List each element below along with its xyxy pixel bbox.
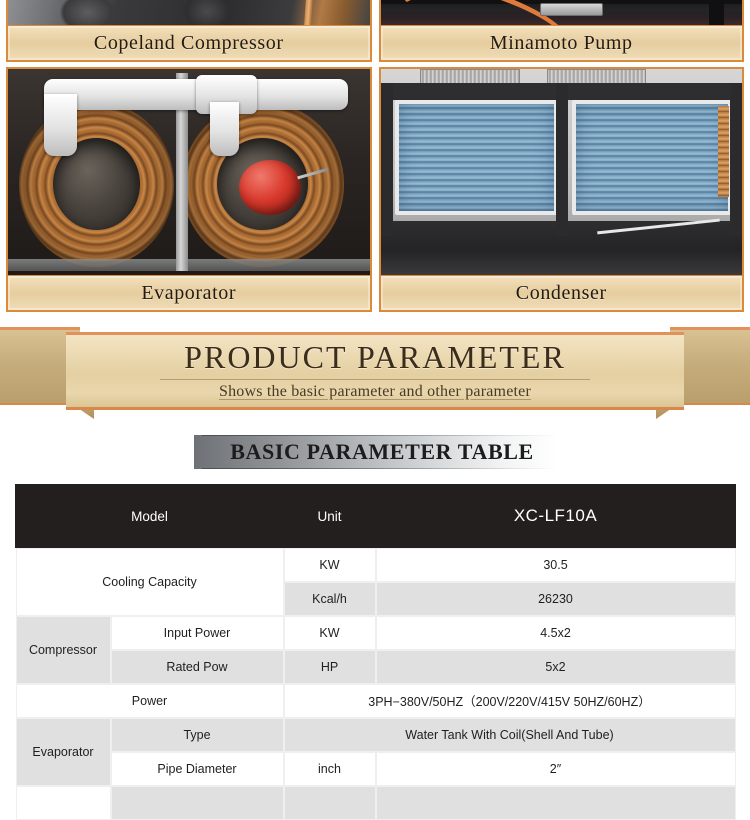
gallery-caption-evaporator: Evaporator (8, 275, 370, 310)
condenser-photo (381, 69, 743, 275)
caption-text: Copeland Compressor (94, 32, 284, 55)
banner-title: PRODUCT PARAMETER (184, 341, 566, 375)
cell-value: 4.5x2 (376, 616, 736, 650)
cell-group (16, 786, 111, 820)
pvc-pipe-elbow-left (44, 94, 77, 156)
gallery-row-top: Copeland Compressor Minamoto Pump (6, 0, 744, 62)
pump-rail (709, 0, 723, 25)
gallery-caption-pump: Minamoto Pump (381, 25, 743, 60)
cell-value (376, 786, 736, 820)
gallery-caption-compressor: Copeland Compressor (8, 25, 370, 60)
gallery-cell-condenser[interactable]: Condenser (379, 67, 745, 312)
section-heading-text: BASIC PARAMETER TABLE (230, 439, 534, 464)
compressor-photo (8, 0, 370, 25)
gallery-caption-condenser: Condenser (381, 275, 743, 310)
banner-subtitle: Shows the basic parameter and other para… (219, 383, 531, 401)
condenser-fin-pack-left (395, 100, 558, 215)
banner-center-panel: PRODUCT PARAMETER Shows the basic parame… (66, 332, 684, 410)
cell-item: Pipe Diameter (111, 752, 284, 786)
cell-value: 2″ (376, 752, 736, 786)
table-row: Pipe Diameter inch 2″ (16, 752, 736, 786)
pump-nameplate (540, 3, 603, 17)
cell-unit: HP (284, 650, 376, 684)
banner-divider (160, 379, 590, 380)
cell-unit: KW (284, 548, 376, 582)
cell-value: Water Tank With Coil(Shell And Tube) (284, 718, 736, 752)
table-row-partial (16, 786, 736, 820)
cell-item (111, 786, 284, 820)
header-model: Model (16, 485, 284, 548)
cell-item: Rated Pow (111, 650, 284, 684)
condenser-post-right (730, 83, 742, 235)
section-heading-wrap: BASIC PARAMETER TABLE (0, 435, 750, 469)
cell-unit: Kcal/h (284, 582, 376, 616)
basic-parameter-table: Model Unit XC-LF10A Cooling Capacity KW … (15, 484, 736, 820)
basic-parameter-table-heading: BASIC PARAMETER TABLE (194, 435, 556, 469)
evaporator-photo (8, 69, 370, 275)
copper-header-tube (718, 106, 729, 197)
caption-text: Minamoto Pump (490, 32, 633, 55)
header-unit: Unit (284, 485, 376, 548)
table-row: Compressor Input Power KW 4.5x2 (16, 616, 736, 650)
condenser-post-middle (556, 83, 568, 235)
row-label-cooling-capacity: Cooling Capacity (16, 548, 284, 616)
evaporator-floor-bar (8, 259, 370, 271)
pvc-pipe-elbow-right (210, 102, 239, 156)
table-header-row: Model Unit XC-LF10A (16, 485, 736, 548)
condenser-fin-pack-right (572, 100, 732, 215)
row-label-compressor: Compressor (16, 616, 111, 684)
caption-text: Evaporator (141, 282, 236, 305)
table-row: Rated Pow HP 5x2 (16, 650, 736, 684)
pump-photo (381, 0, 743, 25)
evaporator-coil-left (19, 102, 174, 267)
gallery-cell-pump[interactable]: Minamoto Pump (379, 0, 745, 62)
cell-value: 26230 (376, 582, 736, 616)
gallery-row-bottom: Evaporator Condenser (6, 67, 744, 312)
cell-value: 30.5 (376, 548, 736, 582)
product-gallery: Copeland Compressor Minamoto Pump (0, 0, 750, 318)
product-parameter-banner: PRODUCT PARAMETER Shows the basic parame… (0, 327, 750, 419)
condenser-post-left (381, 83, 393, 235)
gallery-cell-compressor[interactable]: Copeland Compressor (6, 0, 372, 62)
spec-table-wrap: Model Unit XC-LF10A Cooling Capacity KW … (0, 484, 750, 820)
cell-unit: KW (284, 616, 376, 650)
cell-value: 5x2 (376, 650, 736, 684)
cell-unit (284, 786, 376, 820)
row-label-evaporator: Evaporator (16, 718, 111, 786)
cell-unit: inch (284, 752, 376, 786)
cell-item: Type (111, 718, 284, 752)
caption-text: Condenser (516, 282, 607, 305)
red-float-ball (239, 160, 300, 216)
table-row: Power 3PH−380V/50HZ（200V/220V/415V 50HZ/… (16, 684, 736, 718)
row-label-power: Power (16, 684, 284, 718)
cell-value: 3PH−380V/50HZ（200V/220V/415V 50HZ/60HZ） (284, 684, 736, 718)
table-row: Cooling Capacity KW 30.5 (16, 548, 736, 582)
header-model-value: XC-LF10A (376, 485, 736, 548)
gallery-cell-evaporator[interactable]: Evaporator (6, 67, 372, 312)
cell-item: Input Power (111, 616, 284, 650)
table-row: Evaporator Type Water Tank With Coil(She… (16, 718, 736, 752)
